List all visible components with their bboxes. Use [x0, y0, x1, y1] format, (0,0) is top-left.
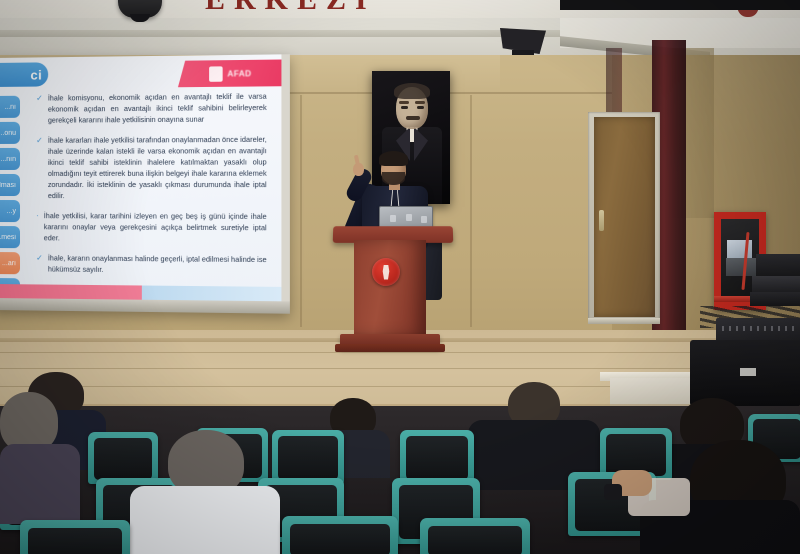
lectern-body	[354, 240, 426, 336]
institution-emblem-icon	[372, 258, 400, 286]
slide-bullet: ✓ İhale, kararın onaylanması halinde geç…	[36, 253, 267, 277]
laptop-sticker-icon	[421, 216, 427, 223]
slide-nav-item: ...nı	[0, 96, 20, 119]
floor-plank-line	[0, 352, 800, 353]
projection-screen-frame: ci AFAD ...nı ...onu ...nın ...lması ...…	[0, 54, 290, 313]
door-handle-icon[interactable]	[599, 210, 604, 231]
lectern-plinth	[335, 344, 445, 352]
conference-hall-photo: ERKEZİ ci	[0, 0, 800, 554]
slide-nav-label: ...nın	[0, 155, 16, 162]
auditorium-seat[interactable]	[400, 430, 474, 484]
case-label	[740, 368, 756, 376]
audience-person-head	[0, 392, 58, 452]
amplifier-rack-unit	[756, 254, 800, 278]
slide-nav-item: ...mesi	[0, 226, 20, 248]
auditorium-seat[interactable]	[272, 430, 344, 484]
slide-nav-item: ...onu	[0, 122, 20, 144]
seat-cushion	[28, 528, 122, 554]
door-sill	[588, 318, 660, 324]
slide-footer-accent-secondary	[142, 285, 282, 301]
slide-bullet: ✓ İhale komisyonu, ekonomik açıdan en av…	[36, 92, 267, 127]
portrait-hair	[394, 83, 430, 99]
slide-nav-item: ...y	[0, 200, 20, 222]
audience-person-body	[130, 486, 280, 554]
bullet-text: İhale kararları ihale yetkilisi tarafınd…	[48, 135, 267, 203]
slide-logo-text: AFAD	[227, 69, 251, 78]
seat-cushion	[278, 436, 338, 480]
bullet-text: İhale komisyonu, ekonomik açıdan en avan…	[48, 92, 267, 127]
seat-cushion	[428, 526, 522, 554]
slide-nav-label: ...nı	[4, 103, 16, 110]
portrait-moustache	[406, 116, 420, 120]
slide-title-bar: ci	[0, 62, 48, 87]
wall-vertical-seam	[470, 95, 472, 327]
bullet-text: İhale yetkilisi, karar tarihini izleyen …	[44, 211, 267, 245]
slide-title: ci	[30, 67, 42, 82]
slide-bullet: · İhale yetkilisi, karar tarihini izleye…	[36, 211, 267, 245]
laptop-sticker-icon	[390, 215, 396, 222]
seat-cushion	[290, 524, 390, 554]
ataturk-portrait	[372, 71, 450, 204]
mixer-knobs-icon[interactable]	[722, 326, 796, 331]
projection-screen: ci AFAD ...nı ...onu ...nın ...lması ...…	[0, 54, 281, 301]
emblem-inner-mark	[381, 265, 392, 280]
auditorium-seat[interactable]	[88, 432, 158, 484]
portrait-eye-right	[417, 106, 424, 109]
speaker-hair	[379, 151, 408, 166]
floor-plank-line	[0, 368, 800, 369]
slide-nav-label: ...onu	[0, 129, 16, 136]
auditorium-seat[interactable]	[420, 518, 530, 554]
slide-nav-label: ...y	[7, 208, 16, 215]
slide-nav-label: ...arı	[2, 260, 16, 267]
wall-sign-text: ERKEZİ	[205, 0, 585, 17]
portrait-brow-left	[399, 101, 409, 104]
portrait-eye-left	[401, 106, 408, 109]
amplifier-rack-unit	[752, 276, 800, 292]
seat-cushion	[94, 438, 152, 480]
presentation-slide: ci AFAD ...nı ...onu ...nın ...lması ...…	[0, 54, 281, 301]
bullet-marker-icon: ·	[36, 211, 39, 244]
speaker-beard	[382, 172, 405, 185]
auditorium-seat[interactable]	[20, 520, 130, 554]
control-laptop[interactable]	[726, 258, 756, 276]
seat-cushion	[406, 436, 468, 480]
ceiling-shadow	[560, 0, 800, 10]
slide-bullet: ✓ İhale kararları ihale yetkilisi tarafı…	[36, 135, 267, 203]
slide-nav-label: ...lması	[0, 181, 16, 188]
ceiling-beam	[0, 30, 560, 37]
slide-nav-item: ...lması	[0, 174, 20, 196]
audience-person-body	[0, 444, 80, 524]
slide-nav-item-active: ...arı	[0, 252, 20, 275]
slide-nav-item: ...nın	[0, 148, 20, 170]
bullet-text: İhale, kararın onaylanması halinde geçer…	[48, 253, 267, 277]
wall-vertical-seam	[300, 95, 302, 327]
slide-nav-label: ...mesi	[0, 234, 16, 241]
bullet-marker-icon: ✓	[36, 253, 43, 275]
bullet-marker-icon: ✓	[36, 94, 43, 127]
slide-nav-list: ...nı ...onu ...nın ...lması ...y ...mes…	[0, 96, 20, 302]
laptop-sticker-icon	[406, 214, 412, 221]
slide-logo-band: AFAD	[178, 59, 282, 87]
portrait-brow-right	[415, 101, 425, 104]
slide-body: ✓ İhale komisyonu, ekonomik açıdan en av…	[36, 92, 267, 287]
amplifier-rack-unit	[750, 292, 800, 306]
bullet-marker-icon: ✓	[36, 136, 43, 202]
wristwatch-icon	[604, 484, 622, 500]
organization-logo-icon	[209, 66, 223, 81]
auditorium-seat[interactable]	[282, 516, 398, 554]
